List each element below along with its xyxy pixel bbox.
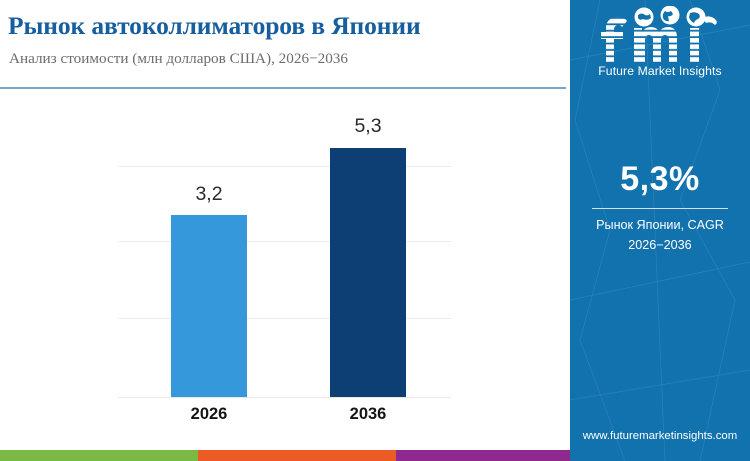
- brand-panel: Future Market Insights 5,3% Рынок Японии…: [570, 0, 750, 461]
- cagr-label-period: 2026−2036: [570, 238, 750, 252]
- globe-icon-2: [661, 6, 680, 25]
- cagr-divider: [592, 208, 728, 209]
- bar-2026[interactable]: [171, 215, 247, 397]
- fmi-logo-mark: [598, 6, 722, 62]
- strip-segment-purple: [396, 450, 570, 461]
- globe-icon-1: [635, 8, 654, 27]
- infographic-page: Рынок автоколлиматоров в Японии Анализ с…: [0, 0, 750, 461]
- bar-value-2036: 5,3: [320, 115, 416, 138]
- strip-segment-orange: [198, 450, 396, 461]
- bar-category-2026: 2026: [154, 405, 264, 424]
- cagr-value: 5,3%: [570, 160, 750, 199]
- page-title: Рынок автоколлиматоров в Японии: [8, 11, 421, 41]
- bar-category-2036: 2036: [313, 405, 423, 424]
- content-area: Рынок автоколлиматоров в Японии Анализ с…: [0, 0, 570, 448]
- footer-color-strip: [0, 450, 570, 461]
- website-url[interactable]: www.futuremarketinsights.com: [570, 430, 750, 442]
- cagr-label-primary: Рынок Японии, CAGR: [570, 218, 750, 232]
- page-subtitle: Анализ стоимости (млн долларов США), 202…: [9, 50, 348, 68]
- strip-segment-green: [0, 450, 198, 461]
- fmi-logo[interactable]: Future Market Insights: [570, 6, 750, 78]
- header-divider: [0, 87, 566, 89]
- bar-chart: 3,2 2026 5,3 2036: [0, 90, 566, 435]
- logo-flourish: [702, 16, 717, 25]
- fmi-wordmark: Future Market Insights: [570, 64, 750, 78]
- bar-value-2026: 3,2: [161, 183, 257, 206]
- axis-baseline: [118, 397, 451, 398]
- bar-2036[interactable]: [330, 148, 406, 397]
- globe-icon-3: [687, 8, 706, 27]
